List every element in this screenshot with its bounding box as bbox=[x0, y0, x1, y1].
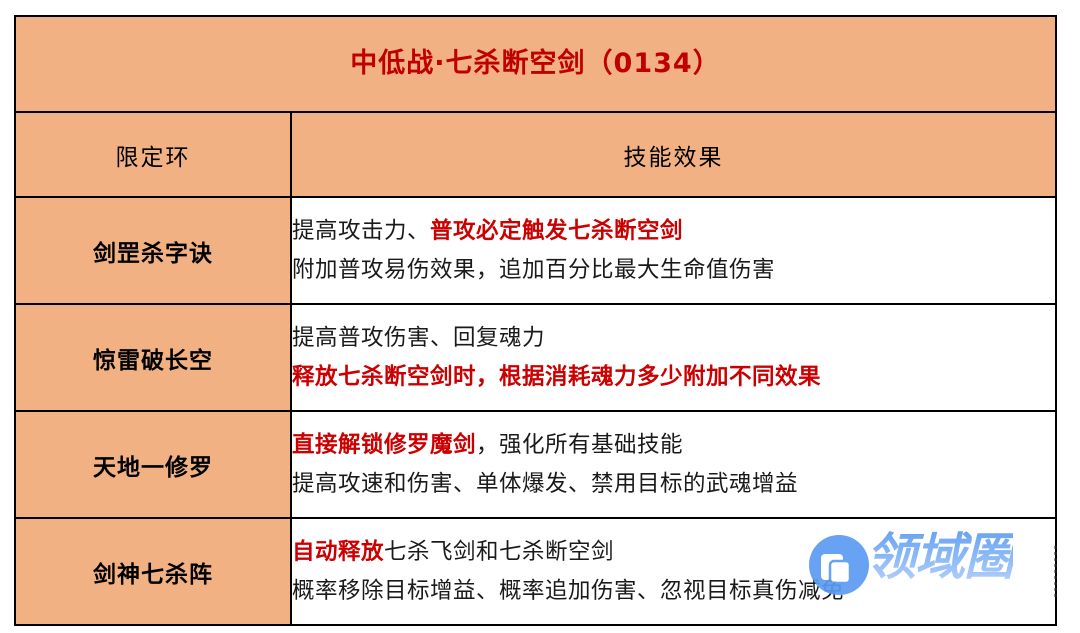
skill-effect-cell: 直接解锁修罗魔剑，强化所有基础技能提高攻速和伤害、单体爆发、禁用目标的武魂增益 bbox=[291, 411, 1056, 518]
skill-name-cell: 剑神七杀阵 bbox=[15, 518, 291, 625]
skill-table: 中低战·七杀断空剑（0134） 限定环 技能效果 剑罡杀字诀 提高攻击力、普攻必… bbox=[14, 15, 1057, 626]
skill-effect-cell: 提高攻击力、普攻必定触发七杀断空剑附加普攻易伤效果，追加百分比最大生命值伤害 bbox=[291, 197, 1056, 304]
plain-text: 附加普攻易伤效果，追加百分比最大生命值伤害 bbox=[292, 257, 775, 283]
highlighted-text: 自动释放 bbox=[292, 539, 384, 565]
highlighted-text: 释放七杀断空剑时，根据消耗魂力多少附加不同效果 bbox=[292, 364, 821, 390]
skill-effect-line: 释放七杀断空剑时，根据消耗魂力多少附加不同效果 bbox=[292, 358, 1055, 397]
highlighted-text: 普攻必定触发七杀断空剑 bbox=[430, 218, 683, 244]
table-title-cell: 中低战·七杀断空剑（0134） bbox=[15, 16, 1056, 112]
plain-text: 提高攻速和伤害、单体爆发、禁用目标的武魂增益 bbox=[292, 471, 798, 497]
table-row: 剑罡杀字诀 提高攻击力、普攻必定触发七杀断空剑附加普攻易伤效果，追加百分比最大生… bbox=[15, 197, 1056, 304]
plain-text: 概率移除目标增益、概率追加伤害、忽视目标真伤减免 bbox=[292, 578, 844, 604]
column-header-effect: 技能效果 bbox=[291, 112, 1056, 197]
table-row: 惊雷破长空 提高普攻伤害、回复魂力释放七杀断空剑时，根据消耗魂力多少附加不同效果 bbox=[15, 304, 1056, 411]
skill-table-body: 中低战·七杀断空剑（0134） 限定环 技能效果 剑罡杀字诀 提高攻击力、普攻必… bbox=[15, 16, 1056, 625]
skill-name-cell: 剑罡杀字诀 bbox=[15, 197, 291, 304]
column-header-name: 限定环 bbox=[15, 112, 291, 197]
skill-table-container: 中低战·七杀断空剑（0134） 限定环 技能效果 剑罡杀字诀 提高攻击力、普攻必… bbox=[14, 15, 1057, 617]
header-row: 限定环 技能效果 bbox=[15, 112, 1056, 197]
skill-effect-line: 自动释放七杀飞剑和七杀断空剑 bbox=[292, 533, 1055, 572]
plain-text: 七杀飞剑和七杀断空剑 bbox=[384, 539, 614, 565]
skill-effect-line: 提高普攻伤害、回复魂力 bbox=[292, 319, 1055, 358]
skill-name-cell: 天地一修罗 bbox=[15, 411, 291, 518]
title-row: 中低战·七杀断空剑（0134） bbox=[15, 16, 1056, 112]
plain-text: 提高攻击力、 bbox=[292, 218, 430, 244]
skill-effect-line: 提高攻击力、普攻必定触发七杀断空剑 bbox=[292, 212, 1055, 251]
plain-text: 提高普攻伤害、回复魂力 bbox=[292, 325, 545, 351]
highlighted-text: 直接解锁修罗魔剑 bbox=[292, 432, 476, 458]
skill-effect-cell: 提高普攻伤害、回复魂力释放七杀断空剑时，根据消耗魂力多少附加不同效果 bbox=[291, 304, 1056, 411]
skill-effect-line: 直接解锁修罗魔剑，强化所有基础技能 bbox=[292, 426, 1055, 465]
skill-effect-line: 概率移除目标增益、概率追加伤害、忽视目标真伤减免 bbox=[292, 572, 1055, 611]
skill-name-cell: 惊雷破长空 bbox=[15, 304, 291, 411]
page-title: 中低战·七杀断空剑（0134） bbox=[350, 48, 720, 79]
skill-effect-line: 附加普攻易伤效果，追加百分比最大生命值伤害 bbox=[292, 251, 1055, 290]
skill-effect-line: 提高攻速和伤害、单体爆发、禁用目标的武魂增益 bbox=[292, 465, 1055, 504]
table-row: 剑神七杀阵 自动释放七杀飞剑和七杀断空剑概率移除目标增益、概率追加伤害、忽视目标… bbox=[15, 518, 1056, 625]
skill-effect-cell: 自动释放七杀飞剑和七杀断空剑概率移除目标增益、概率追加伤害、忽视目标真伤减免 bbox=[291, 518, 1056, 625]
plain-text: ，强化所有基础技能 bbox=[476, 432, 683, 458]
table-row: 天地一修罗 直接解锁修罗魔剑，强化所有基础技能提高攻速和伤害、单体爆发、禁用目标… bbox=[15, 411, 1056, 518]
